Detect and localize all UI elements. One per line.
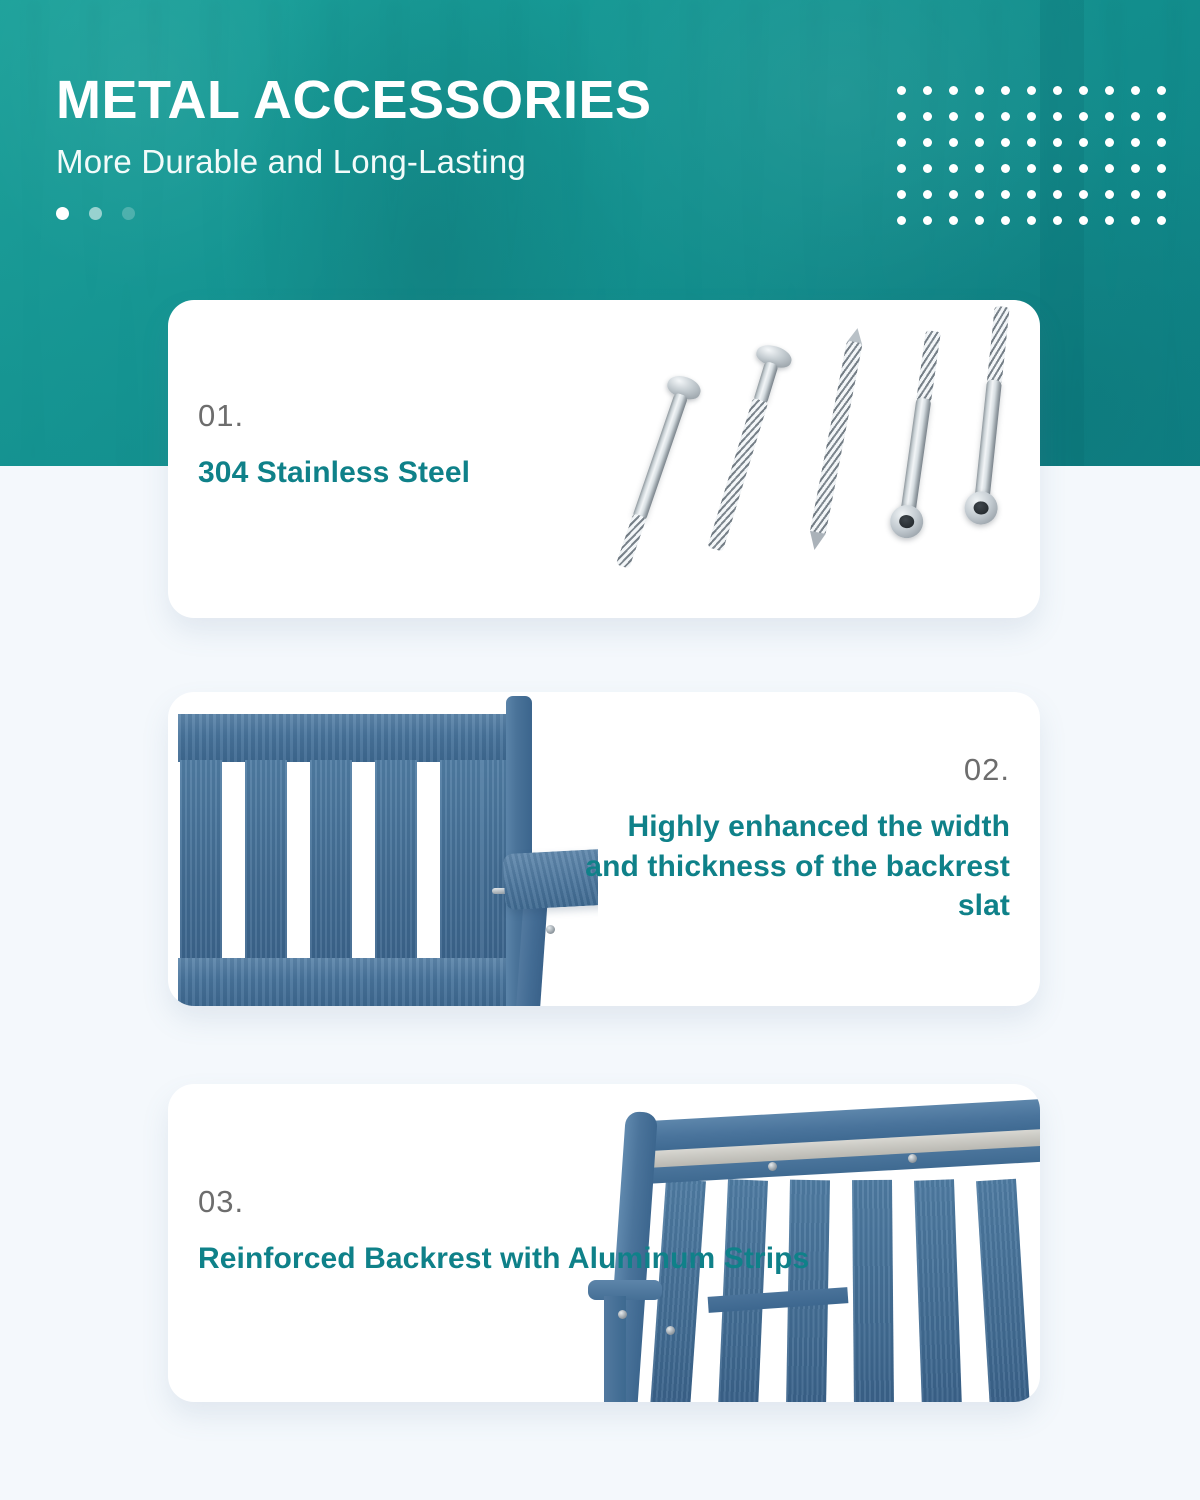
decorative-dot bbox=[1053, 112, 1062, 121]
decorative-dot bbox=[1053, 164, 1062, 173]
decorative-dot bbox=[1131, 190, 1140, 199]
decorative-dot bbox=[1001, 164, 1010, 173]
decorative-dot bbox=[1157, 190, 1166, 199]
decorative-dot bbox=[1027, 86, 1036, 95]
card-1-heading: 304 Stainless Steel bbox=[198, 453, 470, 493]
decorative-dot bbox=[1001, 190, 1010, 199]
decorative-dot bbox=[923, 138, 932, 147]
decorative-dot bbox=[1053, 138, 1062, 147]
decorative-dot bbox=[1053, 86, 1062, 95]
decorative-dot bbox=[923, 164, 932, 173]
card-3-number: 03. bbox=[198, 1186, 809, 1217]
decorative-dot bbox=[1131, 216, 1140, 225]
backrest-slat bbox=[440, 760, 482, 960]
card-2-number: 02. bbox=[580, 754, 1010, 785]
decorative-dot bbox=[897, 138, 906, 147]
bench3-bolt-dot bbox=[768, 1162, 777, 1171]
page-subtitle: More Durable and Long-Lasting bbox=[56, 143, 652, 181]
backrest-slat bbox=[310, 760, 352, 960]
decorative-dot bbox=[1053, 216, 1062, 225]
decorative-dot bbox=[1157, 138, 1166, 147]
bench3-slat bbox=[852, 1180, 894, 1402]
decorative-dot bbox=[1027, 138, 1036, 147]
card-2-text-block: 02. Highly enhanced the width and thickn… bbox=[580, 754, 1010, 926]
carousel-dots-indicator[interactable] bbox=[56, 207, 652, 220]
bench3-bolt-dot bbox=[666, 1326, 675, 1335]
screw-3 bbox=[805, 338, 865, 550]
page-title: METAL ACCESSORIES bbox=[56, 72, 652, 129]
screw-3-bottom-tip bbox=[807, 531, 826, 552]
header-text-block: METAL ACCESSORIES More Durable and Long-… bbox=[56, 72, 652, 220]
bench3-bolt-dot bbox=[618, 1310, 627, 1319]
card-1-text-block: 01. 304 Stainless Steel bbox=[198, 400, 470, 493]
screw-3-thread bbox=[810, 340, 863, 535]
decorative-dot bbox=[1079, 138, 1088, 147]
decorative-dot bbox=[1105, 112, 1114, 121]
decorative-dot bbox=[1157, 86, 1166, 95]
decorative-dot bbox=[1105, 138, 1114, 147]
carousel-dot-2[interactable] bbox=[89, 207, 102, 220]
bench3-bolt-dot bbox=[908, 1154, 917, 1163]
decorative-dot bbox=[1027, 164, 1036, 173]
decorative-dot bbox=[949, 86, 958, 95]
decorative-dot bbox=[1105, 164, 1114, 173]
decorative-dot bbox=[897, 86, 906, 95]
carousel-dot-1[interactable] bbox=[56, 207, 69, 220]
decorative-dot bbox=[1027, 112, 1036, 121]
decorative-dot bbox=[1131, 164, 1140, 173]
screw-1-shaft bbox=[632, 392, 688, 521]
screw-5-shaft bbox=[974, 379, 1002, 502]
decorative-dot bbox=[1157, 112, 1166, 121]
decorative-dot bbox=[1105, 86, 1114, 95]
decorative-dot bbox=[1079, 86, 1088, 95]
screw-1 bbox=[612, 374, 698, 570]
screw-1-thread bbox=[616, 513, 647, 569]
decorative-dot-grid bbox=[897, 86, 1183, 242]
decorative-dot bbox=[975, 112, 984, 121]
decorative-dot bbox=[975, 190, 984, 199]
backrest-slat bbox=[375, 760, 417, 960]
decorative-dot bbox=[897, 164, 906, 173]
bench-bolt-dot bbox=[546, 925, 555, 934]
screw-5-socket-head bbox=[963, 490, 999, 526]
screw-2-thread bbox=[707, 398, 768, 552]
decorative-dot bbox=[1105, 216, 1114, 225]
decorative-dot bbox=[1079, 190, 1088, 199]
decorative-dot bbox=[975, 164, 984, 173]
decorative-dot bbox=[949, 216, 958, 225]
screw-5-thread bbox=[987, 306, 1010, 385]
screw-5 bbox=[966, 305, 1015, 531]
decorative-dot bbox=[1027, 190, 1036, 199]
decorative-dot bbox=[975, 138, 984, 147]
decorative-dot bbox=[1001, 138, 1010, 147]
screw-4-shaft bbox=[900, 397, 931, 516]
decorative-dot bbox=[897, 112, 906, 121]
screw-4-socket-head bbox=[888, 503, 925, 540]
decorative-dot bbox=[1001, 112, 1010, 121]
screw-2 bbox=[704, 343, 787, 552]
carousel-dot-3[interactable] bbox=[122, 207, 135, 220]
decorative-dot bbox=[897, 216, 906, 225]
decorative-dot bbox=[1079, 112, 1088, 121]
backrest-bottom-rail bbox=[178, 958, 518, 1006]
screw-4 bbox=[891, 329, 947, 546]
card-1-number: 01. bbox=[198, 400, 470, 431]
feature-card-3: 03. Reinforced Backrest with Aluminum St… bbox=[168, 1084, 1040, 1402]
backrest-frame bbox=[178, 714, 518, 1006]
decorative-dot bbox=[1105, 190, 1114, 199]
decorative-dot bbox=[1157, 216, 1166, 225]
bench3-slat bbox=[914, 1179, 962, 1402]
decorative-dot bbox=[1001, 216, 1010, 225]
decorative-dot bbox=[897, 190, 906, 199]
card-2-heading: Highly enhanced the width and thickness … bbox=[580, 807, 1010, 926]
card-3-text-block: 03. Reinforced Backrest with Aluminum St… bbox=[198, 1186, 809, 1279]
stainless-steel-screws-photo bbox=[610, 300, 1040, 618]
bench-backrest-slats-photo bbox=[168, 692, 598, 1006]
decorative-dot bbox=[1157, 164, 1166, 173]
screw-4-thread bbox=[916, 330, 941, 403]
feature-card-2: 02. Highly enhanced the width and thickn… bbox=[168, 692, 1040, 1006]
decorative-dot bbox=[1079, 164, 1088, 173]
bench3-slat bbox=[976, 1179, 1030, 1402]
decorative-dot bbox=[923, 190, 932, 199]
decorative-dot bbox=[975, 216, 984, 225]
decorative-dot bbox=[949, 138, 958, 147]
feature-card-1: 01. 304 Stainless Steel bbox=[168, 300, 1040, 618]
decorative-dot bbox=[1079, 216, 1088, 225]
decorative-dot bbox=[949, 112, 958, 121]
decorative-dot bbox=[1001, 86, 1010, 95]
decorative-dot bbox=[1053, 190, 1062, 199]
decorative-dot bbox=[1131, 138, 1140, 147]
decorative-dot bbox=[1131, 86, 1140, 95]
backrest-slat bbox=[180, 760, 222, 960]
decorative-dot bbox=[975, 86, 984, 95]
decorative-dot bbox=[923, 86, 932, 95]
decorative-dot bbox=[949, 190, 958, 199]
backrest-top-rail bbox=[178, 714, 518, 762]
decorative-dot bbox=[923, 112, 932, 121]
decorative-dot bbox=[1131, 112, 1140, 121]
card-3-heading: Reinforced Backrest with Aluminum Strips bbox=[198, 1239, 809, 1279]
decorative-dot bbox=[923, 216, 932, 225]
decorative-dot bbox=[949, 164, 958, 173]
decorative-dot bbox=[1027, 216, 1036, 225]
backrest-slat bbox=[245, 760, 287, 960]
